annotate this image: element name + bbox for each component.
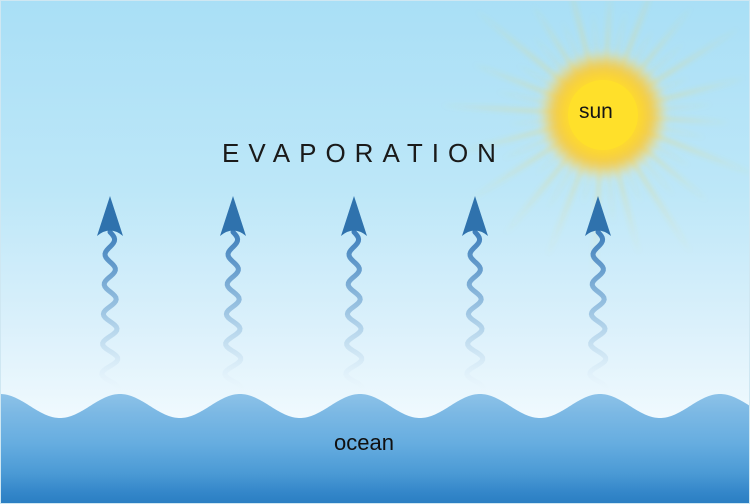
evaporation-diagram: EVAPORATION sun ocean: [0, 0, 750, 504]
sun-core: [568, 80, 638, 150]
diagram-canvas: [0, 0, 750, 504]
